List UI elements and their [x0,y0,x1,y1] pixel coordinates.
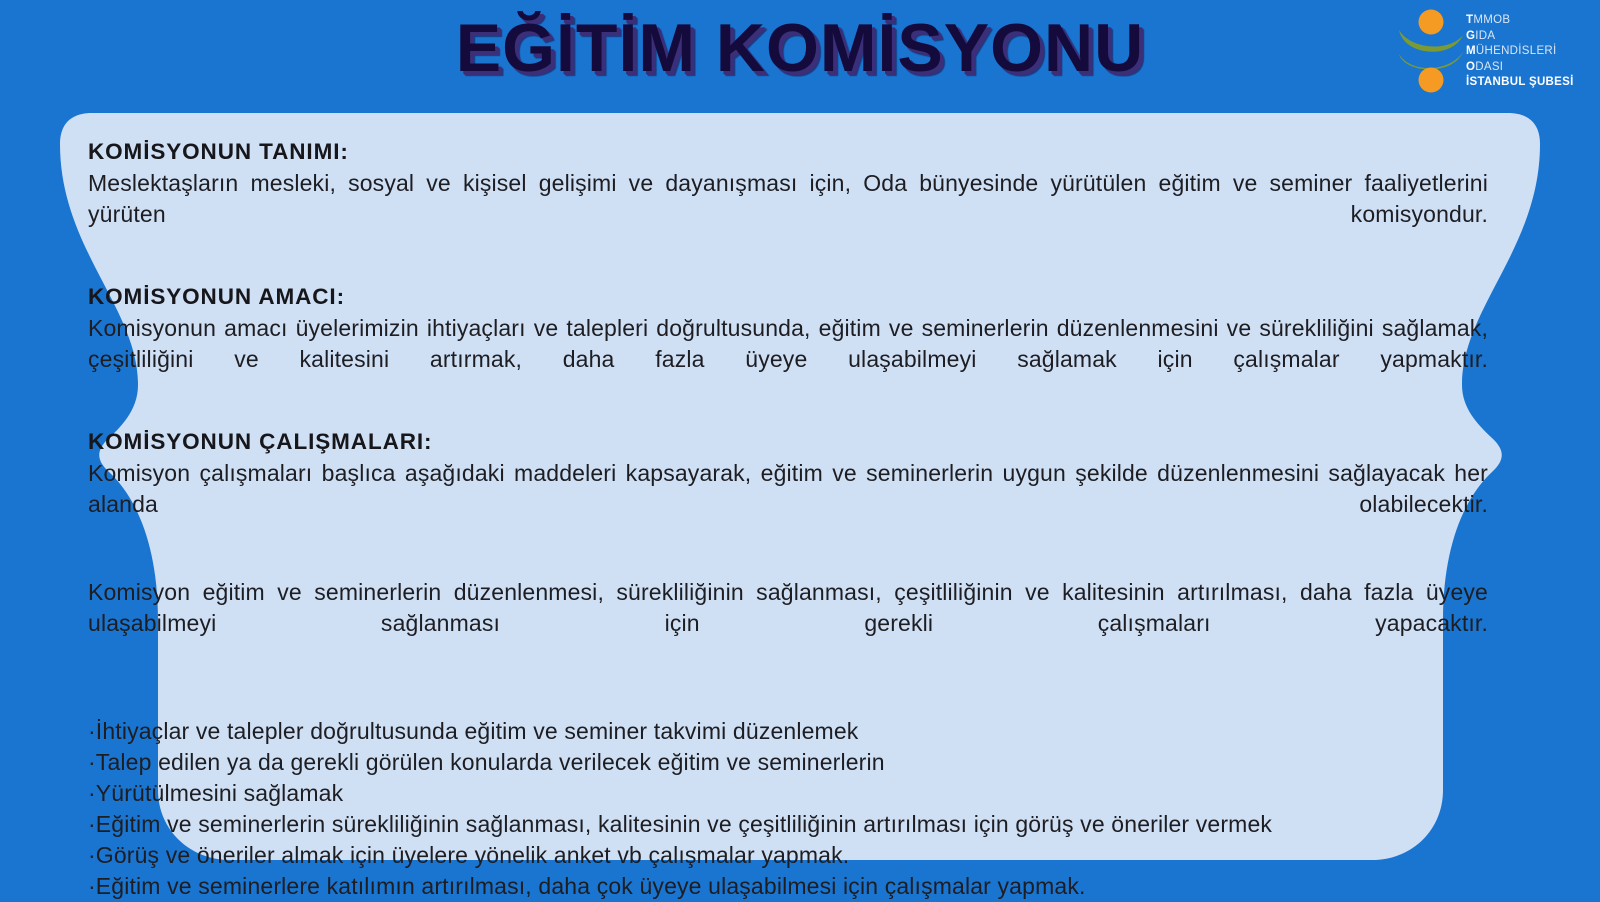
section-komisyonun-calismalari: KOMİSYONUN ÇALIŞMALARI: Komisyon çalışma… [88,428,1488,670]
organization-logo: TMMOB GIDA MÜHENDİSLERİ ODASI İSTANBUL Ş… [1394,8,1584,96]
list-item: ·Görüş ve öneriler almak için üyelere yö… [88,840,1488,871]
content-card: KOMİSYONUN TANIMI: Meslektaşların meslek… [0,108,1600,870]
card-text-content: KOMİSYONUN TANIMI: Meslektaşların meslek… [88,138,1488,853]
paragraph-spacer [88,551,1488,577]
logo-line-odasi: ODASI [1466,60,1584,76]
section-heading: KOMİSYONUN TANIMI: [88,138,1488,166]
logo-text-block: TMMOB GIDA MÜHENDİSLERİ ODASI İSTANBUL Ş… [1466,13,1584,91]
logo-line-branch: İSTANBUL ŞUBESİ [1466,75,1584,91]
logo-line-muhendisleri: MÜHENDİSLERİ [1466,44,1584,60]
list-item: ·Yürütülmesini sağlamak [88,778,1488,809]
section-body: Komisyon çalışmaları başlıca aşağıdaki m… [88,458,1488,551]
list-item: ·Eğitim ve seminerlere katılımın artırıl… [88,871,1488,902]
list-item: ·Talep edilen ya da gerekli görülen konu… [88,747,1488,778]
list-item: ·İhtiyaçlar ve talepler doğrultusunda eğ… [88,716,1488,747]
section-body: Meslektaşların mesleki, sosyal ve kişise… [88,168,1488,261]
logo-line-tmmob: TMMOB [1466,13,1584,29]
list-item: ·Eğitim ve seminerlerin sürekliliğinin s… [88,809,1488,840]
logo-mark-icon [1394,8,1468,94]
bullets-spacer [88,690,1488,716]
slide-header: EĞİTİM KOMİSYONU TMMOB GIDA MÜHENDİSLERİ… [0,0,1600,113]
logo-line-gida: GIDA [1466,29,1584,45]
section-body-secondary: Komisyon eğitim ve seminerlerin düzenlen… [88,577,1488,670]
section-heading: KOMİSYONUN ÇALIŞMALARI: [88,428,1488,456]
section-komisyonun-amaci: KOMİSYONUN AMACI: Komisyonun amacı üyele… [88,283,1488,406]
section-komisyonun-tanimi: KOMİSYONUN TANIMI: Meslektaşların meslek… [88,138,1488,261]
activities-bullet-list: ·İhtiyaçlar ve talepler doğrultusunda eğ… [88,716,1488,902]
page-title: EĞİTİM KOMİSYONU [0,14,1600,82]
slide-root: EĞİTİM KOMİSYONU TMMOB GIDA MÜHENDİSLERİ… [0,0,1600,900]
section-heading: KOMİSYONUN AMACI: [88,283,1488,311]
section-body: Komisyonun amacı üyelerimizin ihtiyaçlar… [88,313,1488,406]
